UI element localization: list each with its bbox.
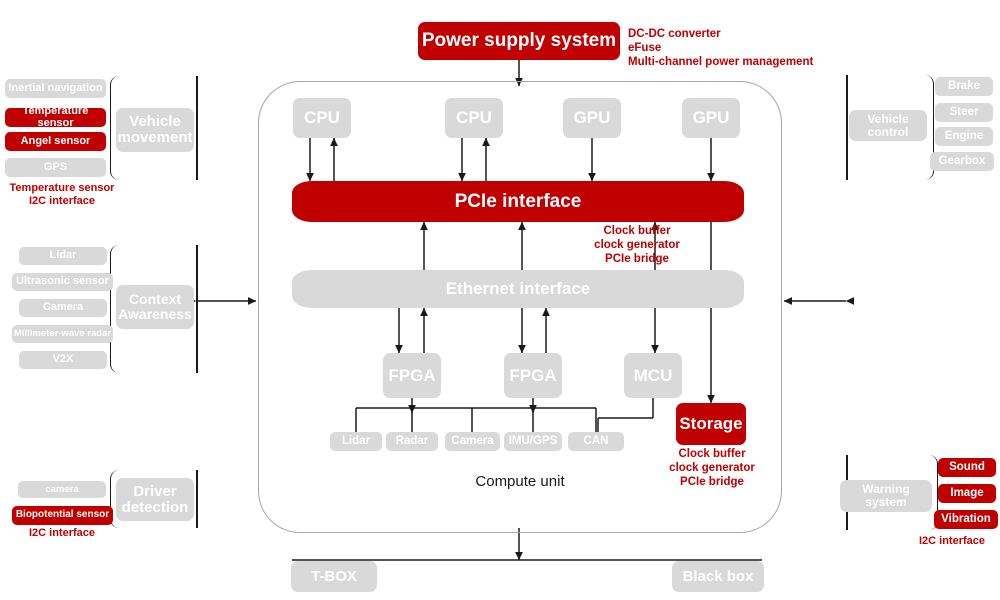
right-group-bar-vehicle-control xyxy=(846,75,848,180)
left-item-gps[interactable]: GPS xyxy=(5,158,106,177)
left-item-camera[interactable]: Camera xyxy=(19,299,107,317)
note-line-2: I2C interface xyxy=(2,195,122,208)
left-group-label-context-awareness: Context Awareness xyxy=(116,285,194,329)
bus-node-camera[interactable]: Camera xyxy=(445,432,500,451)
storage-note-line-1: Clock buffer xyxy=(648,447,776,461)
right-item-image[interactable]: Image xyxy=(938,484,996,503)
right-group-label-warning-system: Warning system xyxy=(840,480,932,512)
right-item-brake[interactable]: Brake xyxy=(935,77,993,96)
processor-gpu-1[interactable]: GPU xyxy=(563,98,621,138)
left-item-angel-sensor[interactable]: Angel sensor xyxy=(5,132,106,151)
left-item-lidar[interactable]: Lidar xyxy=(19,247,107,265)
pcie-notes: Clock buffer clock generator PCIe bridge xyxy=(547,224,727,266)
left-group-notes-vehicle-movement: Temperature sensor I2C interface xyxy=(2,182,122,209)
bus-node-can[interactable]: CAN xyxy=(568,432,624,451)
left-item-temperature-sensor[interactable]: Temperature sensor xyxy=(5,108,106,127)
right-item-sound[interactable]: Sound xyxy=(938,458,996,477)
right-item-engine[interactable]: Engine xyxy=(935,127,993,146)
accelerator-fpga-2[interactable]: FPGA xyxy=(504,353,562,398)
left-item-driver-camera[interactable]: camera xyxy=(18,481,106,498)
pcie-interface-bar[interactable]: PCIe interface xyxy=(292,181,744,222)
bus-node-lidar[interactable]: Lidar xyxy=(330,432,382,451)
pcie-note-line-2: clock generator xyxy=(547,238,727,252)
accelerator-fpga-1[interactable]: FPGA xyxy=(383,353,441,398)
left-item-ultrasonic-sensor[interactable]: Ultrasonic sensor xyxy=(12,273,113,291)
diagram-canvas: Power supply system DC-DC converter eFus… xyxy=(0,0,1000,600)
left-group-bar-context-awareness xyxy=(196,245,198,373)
storage-note-line-3: PCIe bridge xyxy=(648,475,776,489)
note-line-1: Temperature sensor xyxy=(2,182,122,195)
right-group-label-vehicle-control: Vehicle control xyxy=(849,110,927,141)
left-group-notes-driver-detection: I2C interface xyxy=(2,527,122,540)
power-supply-notes: DC-DC converter eFuse Multi-channel powe… xyxy=(628,27,888,69)
storage-notes: Clock buffer clock generator PCIe bridge xyxy=(648,447,776,489)
compute-unit-caption: Compute unit xyxy=(420,473,620,490)
power-supply-system-box[interactable]: Power supply system xyxy=(418,22,620,60)
left-group-label-vehicle-movement: Vehicle movement xyxy=(116,108,194,152)
bottom-item-tbox[interactable]: T-BOX xyxy=(291,561,377,592)
left-item-v2x[interactable]: V2X xyxy=(19,351,107,369)
processor-gpu-2[interactable]: GPU xyxy=(682,98,740,138)
accelerator-mcu[interactable]: MCU xyxy=(624,353,682,398)
right-group-notes-warning-system: I2C interface xyxy=(906,535,998,548)
left-group-label-driver-detection: Driver detection xyxy=(116,478,194,521)
pcie-note-line-1: Clock buffer xyxy=(547,224,727,238)
bus-node-imu-gps[interactable]: IMU/GPS xyxy=(504,432,562,451)
left-group-bar-vehicle-movement xyxy=(196,76,198,180)
left-item-inertial-navigation[interactable]: Inertial navigation xyxy=(5,79,106,98)
storage-box[interactable]: Storage xyxy=(676,403,746,445)
ethernet-interface-bar[interactable]: Ethernet interface xyxy=(292,270,744,308)
bottom-item-black-box[interactable]: Black box xyxy=(672,561,764,592)
processor-cpu-1[interactable]: CPU xyxy=(293,98,351,138)
left-item-millimeter-wave-radar[interactable]: Millimeter-wave radar xyxy=(12,325,113,343)
left-group-bar-driver-detection xyxy=(196,470,198,528)
bus-node-radar[interactable]: Radar xyxy=(386,432,438,451)
left-item-biopotential-sensor[interactable]: Biopotential sensor xyxy=(12,506,113,525)
storage-note-line-2: clock generator xyxy=(648,461,776,475)
right-item-steer[interactable]: Steer xyxy=(935,103,993,122)
pcie-note-line-3: PCIe bridge xyxy=(547,252,727,266)
right-item-vibration[interactable]: Vibration xyxy=(934,510,998,529)
processor-cpu-2[interactable]: CPU xyxy=(445,98,503,138)
right-item-gearbox[interactable]: Gearbox xyxy=(930,152,994,171)
